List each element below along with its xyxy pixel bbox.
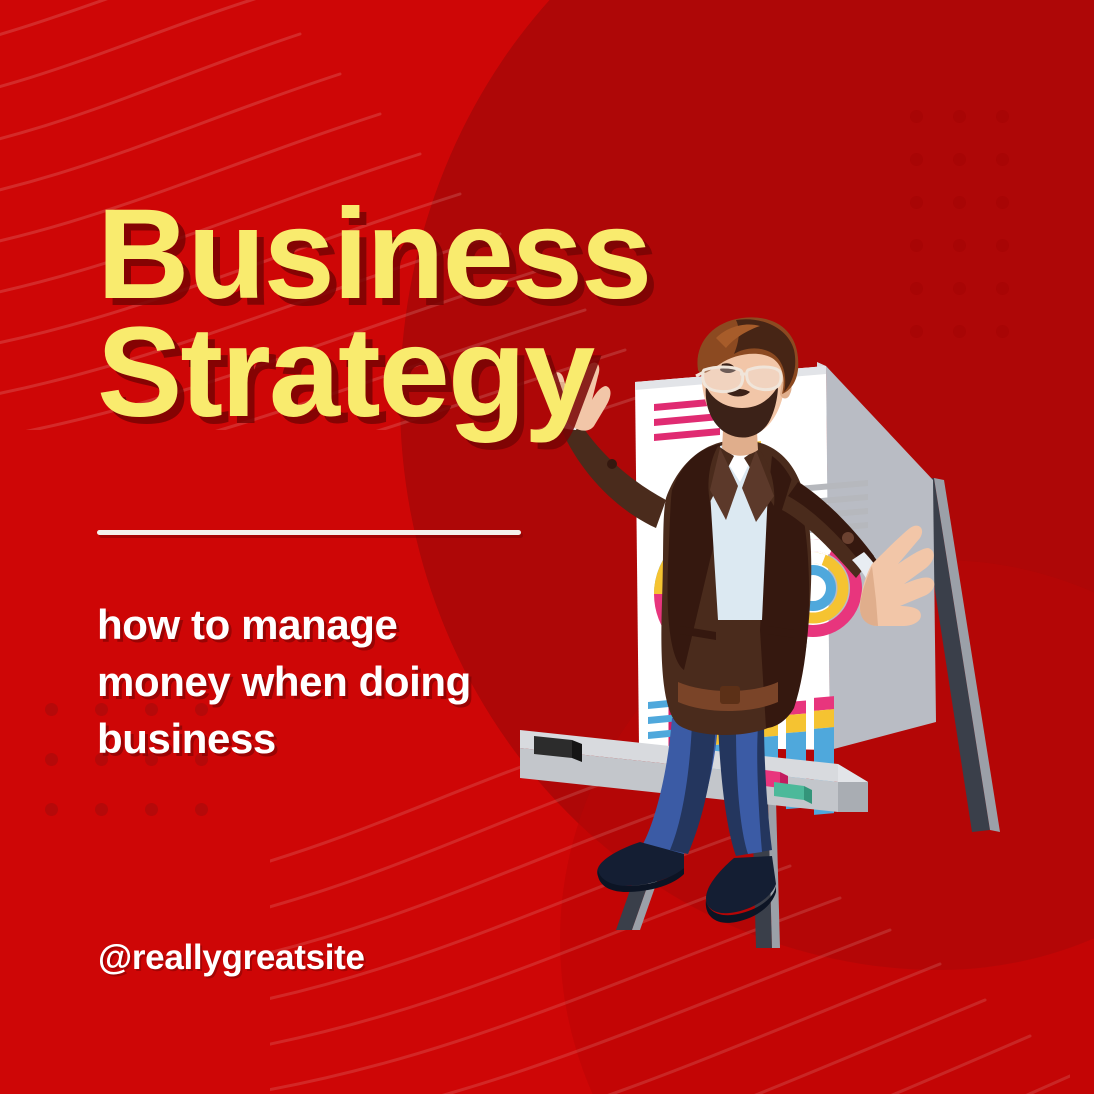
- page-title: Business Strategy: [97, 196, 737, 432]
- poster-text-content: Business Strategy how to manage money wh…: [0, 0, 1094, 1094]
- social-handle: @reallygreatsite: [98, 938, 365, 978]
- poster-canvas: Business Strategy how to manage money wh…: [0, 0, 1094, 1094]
- page-subtitle: how to manage money when doing business: [97, 596, 567, 767]
- title-divider: [97, 530, 521, 535]
